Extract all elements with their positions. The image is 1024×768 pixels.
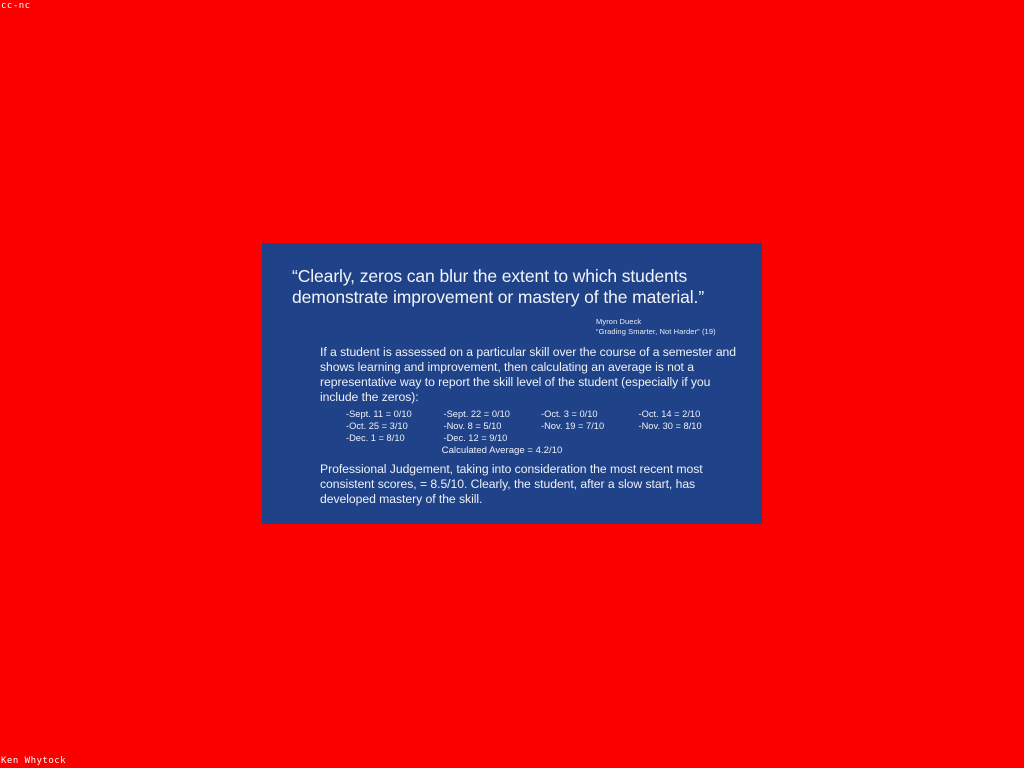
- watermark-author-credit: Ken Whytock: [1, 756, 66, 766]
- score-cell: -Nov. 8 = 5/10: [444, 420, 542, 432]
- score-grid: -Sept. 11 = 0/10 -Sept. 22 = 0/10 -Oct. …: [346, 408, 736, 444]
- score-cell: -Dec. 1 = 8/10: [346, 432, 444, 444]
- calculated-average-value: Calculated Average = 4.2/10: [442, 445, 641, 457]
- score-cell: -Sept. 11 = 0/10: [346, 408, 444, 420]
- attribution-author: Myron Dueck: [596, 317, 746, 327]
- quote-attribution: Myron Dueck “Grading Smarter, Not Harder…: [596, 317, 746, 336]
- score-row: -Sept. 11 = 0/10 -Sept. 22 = 0/10 -Oct. …: [346, 408, 736, 420]
- slide-paragraph-2: Professional Judgement, taking into cons…: [320, 462, 738, 507]
- score-row: -Oct. 25 = 3/10 -Nov. 8 = 5/10 -Nov. 19 …: [346, 420, 736, 432]
- score-cell: -Nov. 19 = 7/10: [541, 420, 639, 432]
- score-cell: -Sept. 22 = 0/10: [444, 408, 542, 420]
- score-cell: -Oct. 3 = 0/10: [541, 408, 639, 420]
- score-row: -Dec. 1 = 8/10 -Dec. 12 = 9/10: [346, 432, 736, 444]
- score-cell: -Nov. 30 = 8/10: [639, 420, 737, 432]
- score-cell: -Oct. 14 = 2/10: [639, 408, 737, 420]
- watermark-cc-nc: cc-nc: [1, 1, 31, 11]
- score-cell: -Dec. 12 = 9/10: [444, 432, 542, 444]
- calculated-average-row: Calculated Average = 4.2/10: [346, 445, 736, 457]
- slide-quote: “Clearly, zeros can blur the extent to w…: [292, 266, 732, 307]
- slide-paragraph-1: If a student is assessed on a particular…: [320, 345, 738, 405]
- score-cell: [639, 432, 737, 444]
- score-cell: -Oct. 25 = 3/10: [346, 420, 444, 432]
- score-cell: [541, 432, 639, 444]
- attribution-source: “Grading Smarter, Not Harder” (19): [596, 327, 746, 337]
- presentation-slide: “Clearly, zeros can blur the extent to w…: [262, 243, 762, 524]
